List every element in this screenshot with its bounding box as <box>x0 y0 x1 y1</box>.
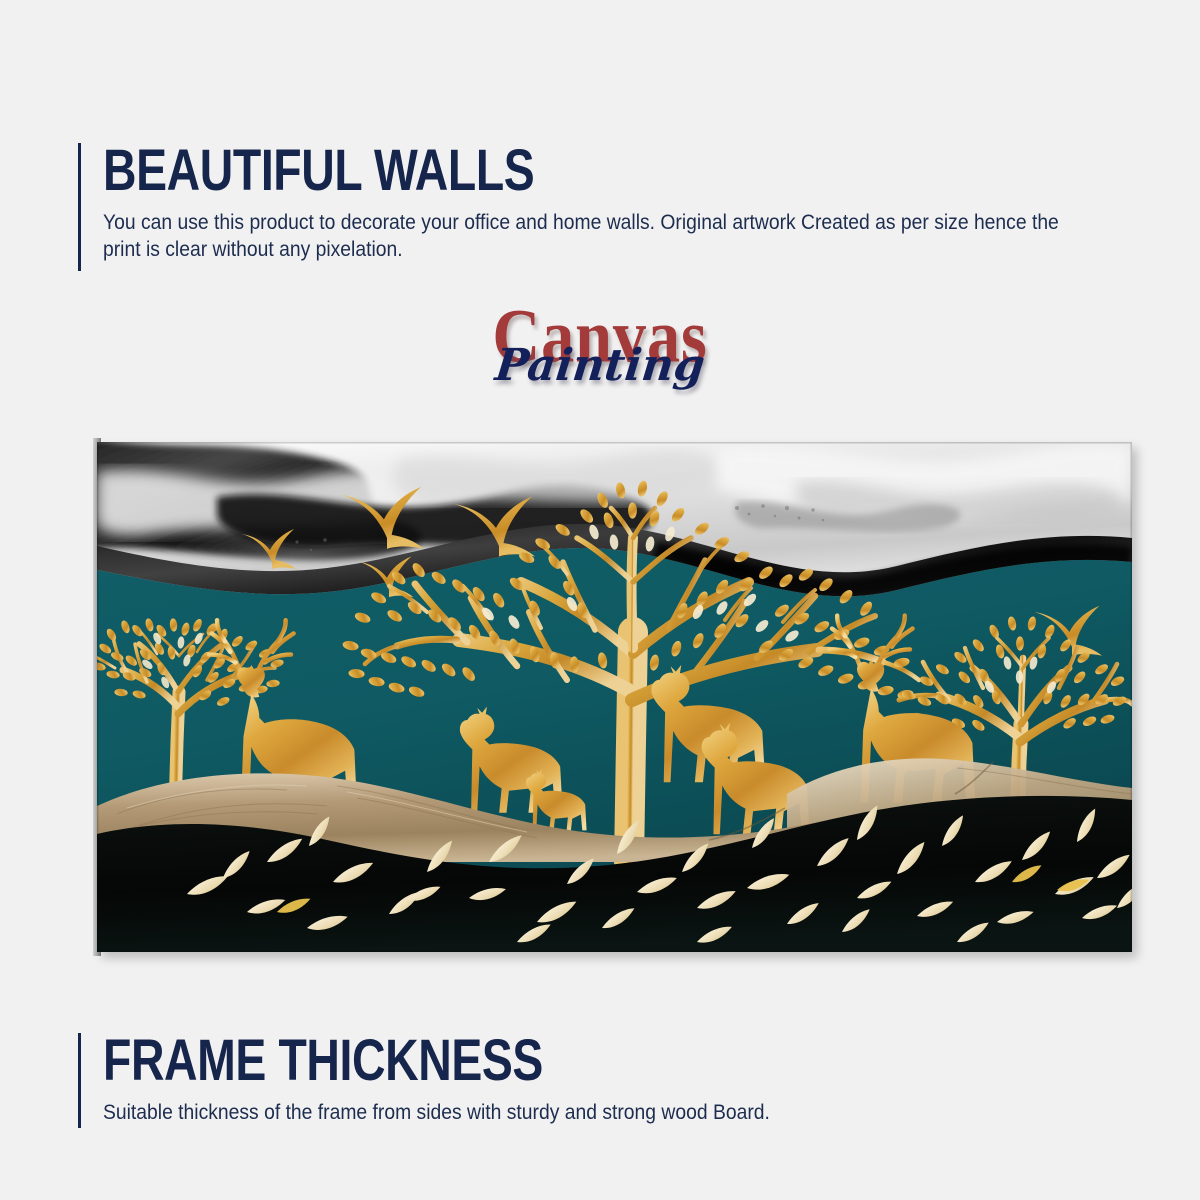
feature-title-frame-thickness: FRAME THICKNESS <box>103 1033 891 1090</box>
feature-desc-frame-thickness: Suitable thickness of the frame from sid… <box>103 1100 1082 1127</box>
logo-word-painting: Painting <box>0 344 1200 388</box>
canvas-artwork <box>97 442 1132 952</box>
brand-logo: Canvas Painting <box>0 300 1200 425</box>
feature-desc-beautiful-walls: You can use this product to decorate you… <box>103 210 1082 264</box>
logo-word-canvas: Canvas <box>492 298 707 374</box>
feature-frame-thickness: FRAME THICKNESS Suitable thickness of th… <box>78 1033 1088 1128</box>
artwork-svg <box>97 442 1132 952</box>
feature-title-beautiful-walls: BEAUTIFUL WALLS <box>103 143 891 200</box>
feature-beautiful-walls: BEAUTIFUL WALLS You can use this product… <box>78 143 1088 271</box>
